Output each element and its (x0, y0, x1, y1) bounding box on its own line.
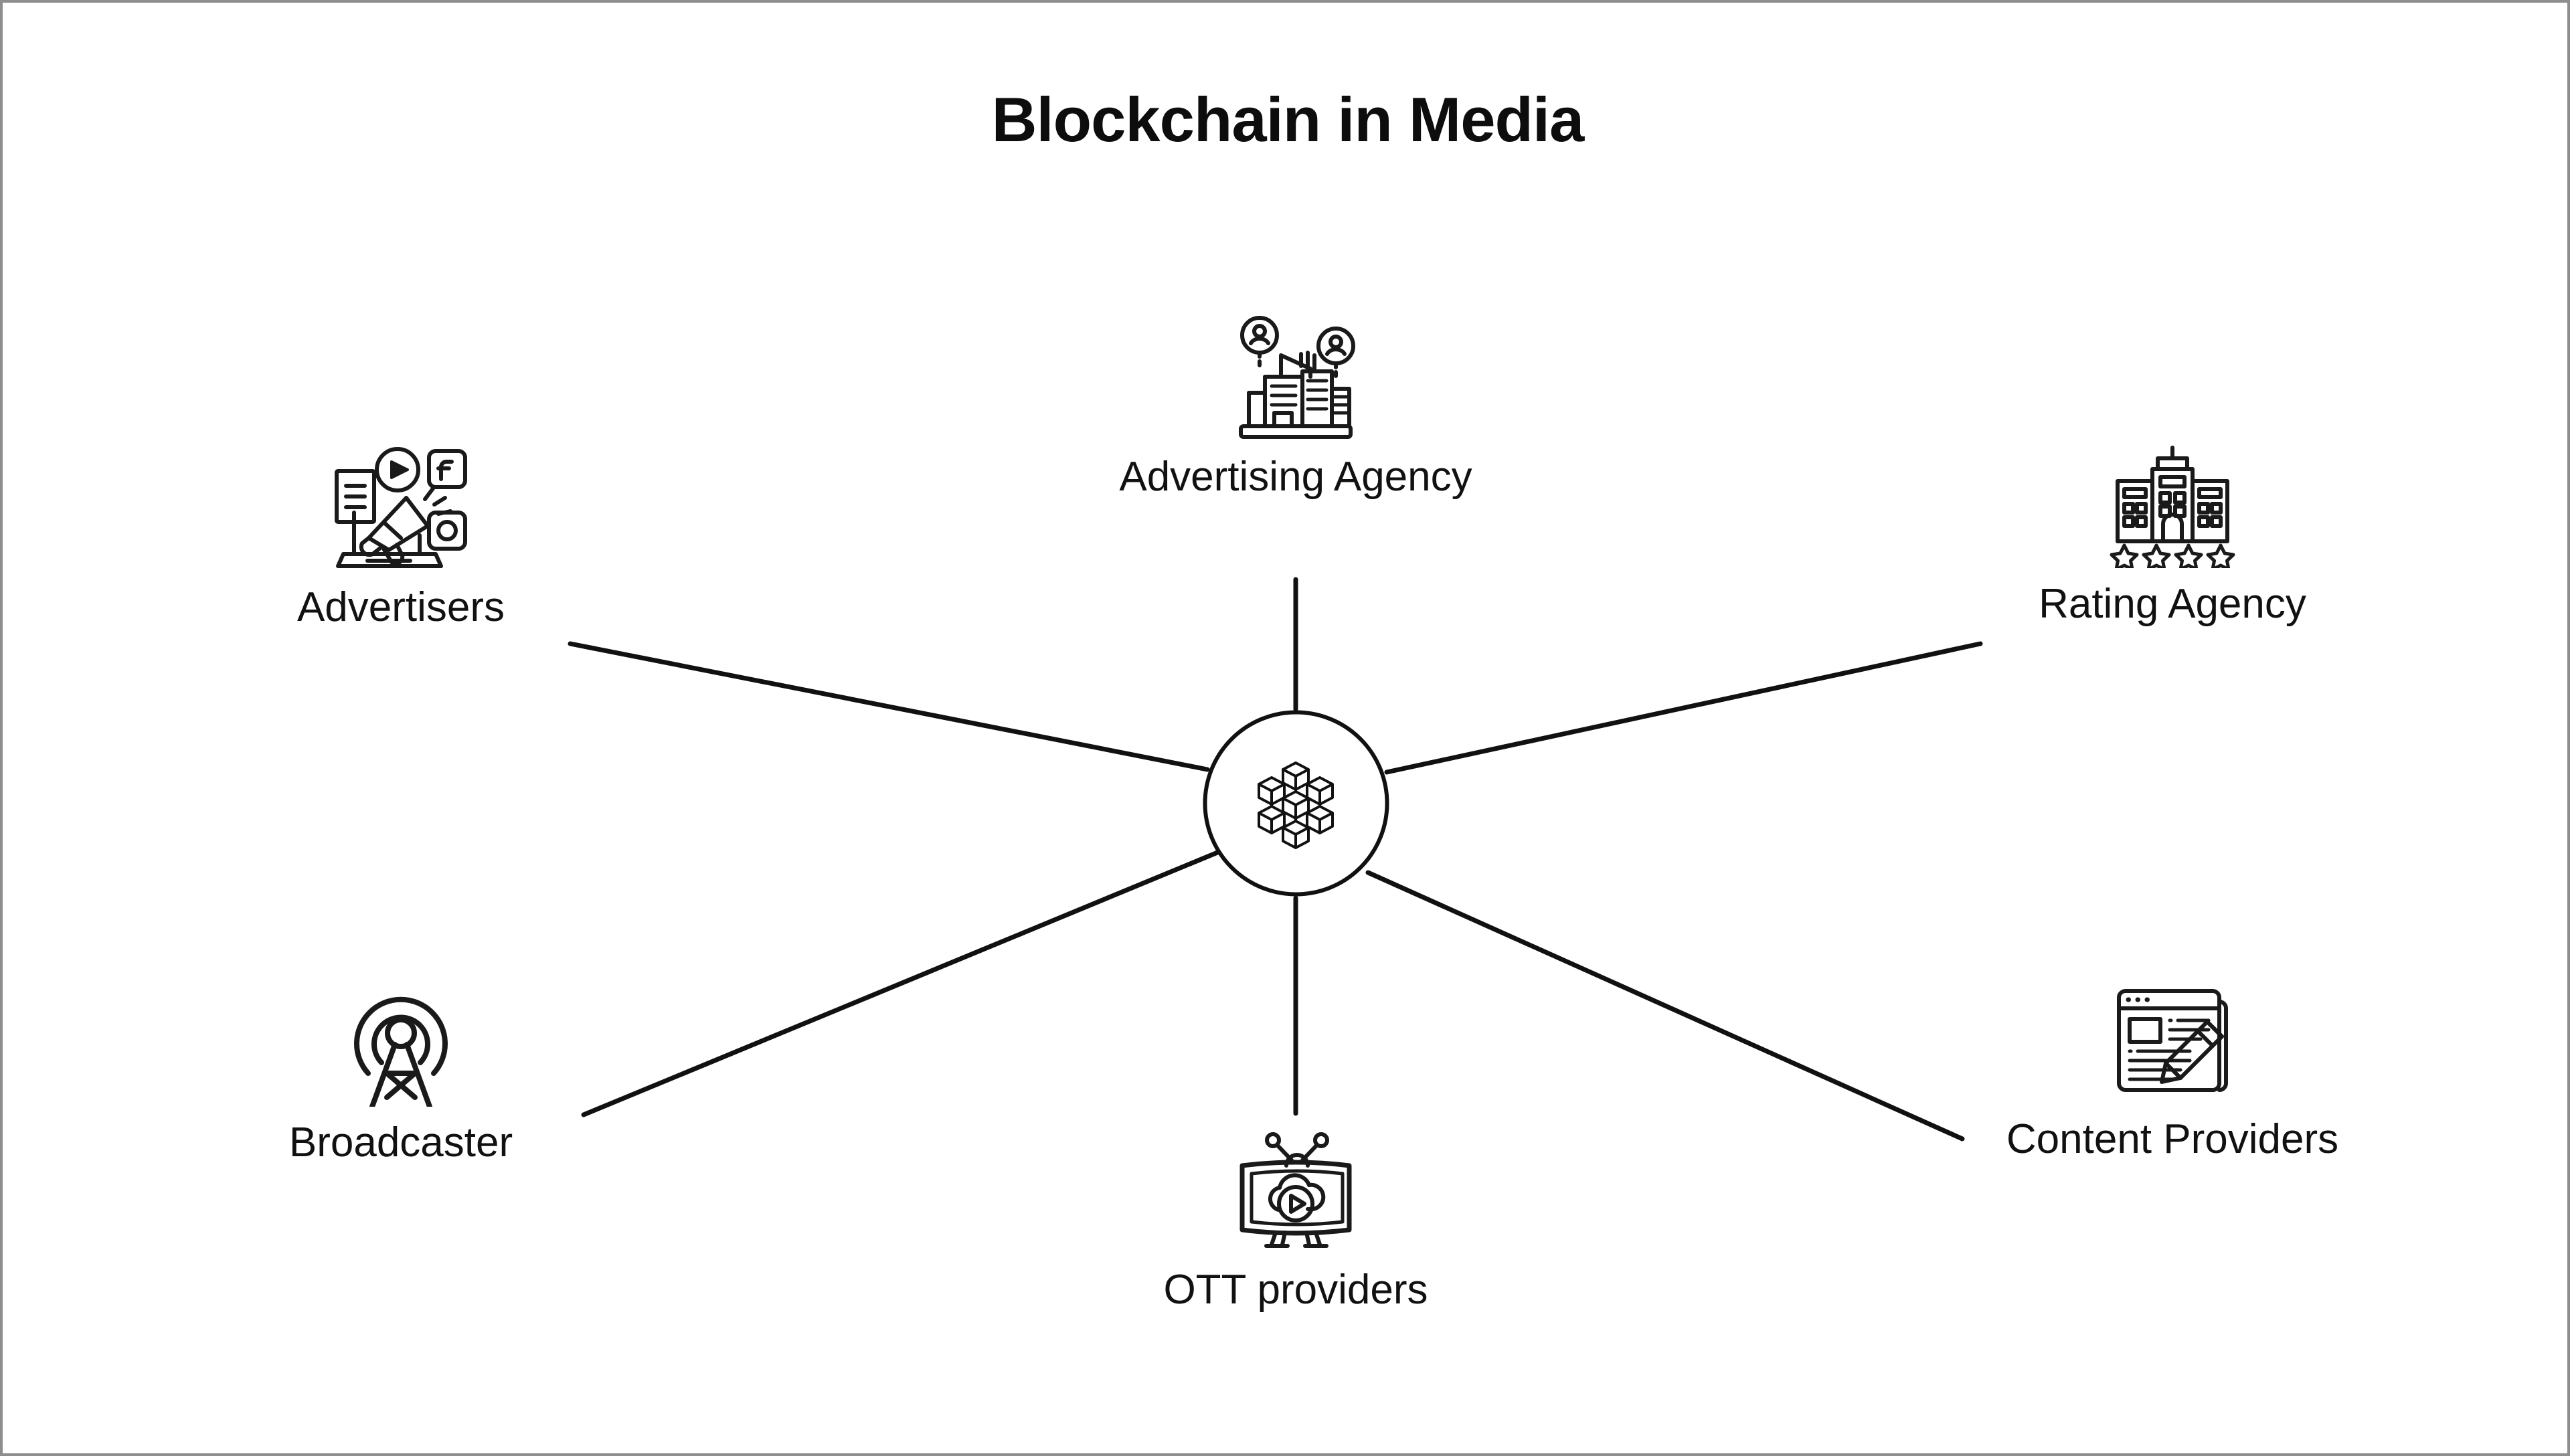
article-pencil-icon (2106, 976, 2239, 1103)
node-rating-agency[interactable]: Rating Agency (1932, 441, 2413, 627)
connector-rating-agency (1387, 644, 1980, 772)
page-title: Blockchain in Media (3, 88, 2570, 151)
connector-content-providers (1368, 873, 1962, 1139)
diagram-canvas: Blockchain in Media (0, 0, 2570, 1456)
node-advertising-agency[interactable]: Advertising Agency (1055, 314, 1537, 500)
building-stars-icon (2106, 441, 2239, 568)
node-advertisers[interactable]: Advertisers (160, 438, 642, 630)
node-ott-providers[interactable]: OTT providers (1055, 1127, 1537, 1313)
node-label-ott-providers: OTT providers (1163, 1267, 1428, 1313)
node-label-rating-agency: Rating Agency (2039, 581, 2306, 627)
node-label-advertising-agency: Advertising Agency (1119, 454, 1472, 500)
broadcast-tower-icon (337, 980, 464, 1107)
node-content-providers[interactable]: Content Providers (1932, 976, 2413, 1162)
node-label-content-providers: Content Providers (2006, 1117, 2338, 1162)
blockchain-hub[interactable] (1201, 708, 1391, 899)
megaphone-laptop-ads-icon (327, 438, 475, 571)
tv-cloud-play-icon (1229, 1127, 1363, 1254)
node-broadcaster[interactable]: Broadcaster (160, 980, 642, 1166)
node-label-broadcaster: Broadcaster (289, 1120, 513, 1166)
connector-advertisers (570, 644, 1207, 769)
connector-broadcaster (584, 851, 1221, 1115)
city-buildings-people-icon (1229, 314, 1363, 441)
node-label-advertisers: Advertisers (297, 585, 505, 630)
